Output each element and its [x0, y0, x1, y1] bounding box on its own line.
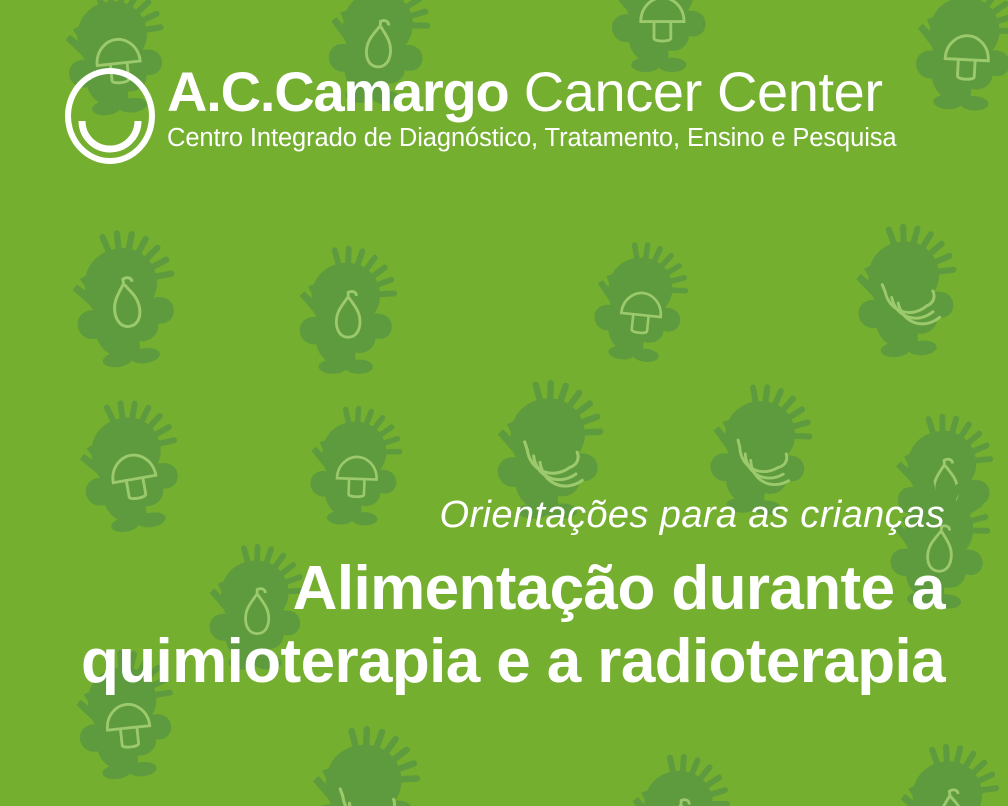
cover-title-line-1: Alimentação durante a	[45, 552, 945, 625]
logo-text-block: A.C.Camargo Cancer Center Centro Integra…	[167, 64, 897, 152]
logo-lockup: A.C.Camargo Cancer Center Centro Integra…	[62, 62, 897, 166]
mushroom-character	[901, 0, 1008, 119]
cover-title-block: Orientações para as crianças Alimentação…	[45, 494, 945, 698]
pear-character	[288, 244, 406, 380]
logo-name: A.C.Camargo	[167, 60, 509, 123]
pear-character	[884, 737, 1008, 806]
banana-character	[300, 724, 430, 806]
pear-character	[53, 220, 197, 380]
pear-character	[617, 749, 742, 806]
logo-tagline: Centro Integrado de Diagnóstico, Tratame…	[167, 124, 897, 152]
cover-title-line-2: quimioterapia e a radioterapia	[45, 625, 945, 698]
cover-page: A.C.Camargo Cancer Center Centro Integra…	[0, 0, 1008, 806]
logo-wordmark: A.C.Camargo Cancer Center	[167, 64, 897, 120]
cover-kicker: Orientações para as crianças	[45, 494, 945, 538]
mushroom-character	[579, 235, 702, 372]
banana-character	[840, 218, 971, 366]
logo-suffix: Cancer Center	[509, 60, 883, 123]
cover-title: Alimentação durante a quimioterapia e a …	[45, 552, 945, 698]
smile-oval-logo-icon	[62, 66, 158, 166]
